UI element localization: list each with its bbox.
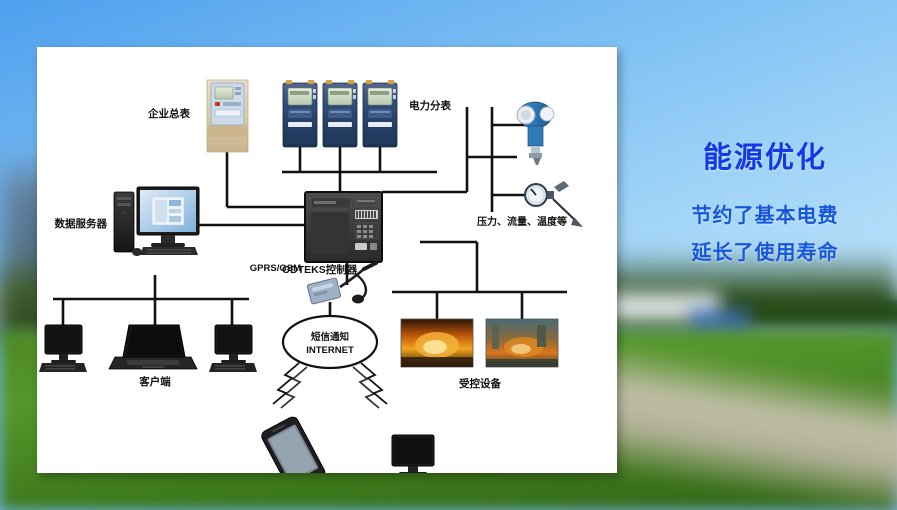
sub-meters-label: 电力分表	[409, 99, 451, 112]
client-desktop-right	[209, 325, 257, 372]
controller-node	[305, 192, 382, 262]
wireless-link-right	[353, 363, 387, 408]
cloud-label-internet: INTERNET	[306, 345, 354, 356]
controlled-equipment-photo-2	[486, 319, 558, 367]
controlled-equipment-label: 受控设备	[459, 377, 501, 390]
remote-pc-node	[383, 435, 441, 473]
sub-meter-3	[363, 80, 397, 147]
cloud-label-sms: 短信通知	[311, 331, 349, 343]
mobile-phone-node	[260, 415, 327, 473]
data-server-node: 数据服务器	[54, 187, 200, 256]
marketing-copy: 能源优化 节约了基本电费 延长了使用寿命	[636, 140, 894, 272]
benefit-line-2: 延长了使用寿命	[636, 235, 894, 272]
gprs-label: GPRS/GSM	[250, 263, 301, 274]
main-meter-label: 企业总表	[147, 107, 190, 120]
network-diagram-panel: 企业总表 电力分	[37, 47, 617, 473]
sub-meter-1	[283, 80, 317, 147]
headline: 能源优化	[636, 140, 894, 176]
client-desktop-left	[39, 325, 87, 372]
benefit-line-1: 节约了基本电费	[636, 198, 894, 235]
internet-cloud-node: 短信通知 INTERNET	[283, 316, 377, 368]
sub-meter-2	[323, 80, 357, 147]
sensors-label: 压力、流量、温度等	[477, 215, 567, 228]
pressure-sensor-node	[517, 102, 554, 165]
wireless-link-left	[273, 363, 307, 408]
client-laptop-center	[109, 325, 197, 369]
data-server-label: 数据服务器	[54, 217, 108, 230]
controlled-equipment-photo-1	[401, 319, 473, 367]
clients-label: 客户端	[138, 375, 171, 388]
main-meter-node: 企业总表	[147, 80, 248, 152]
